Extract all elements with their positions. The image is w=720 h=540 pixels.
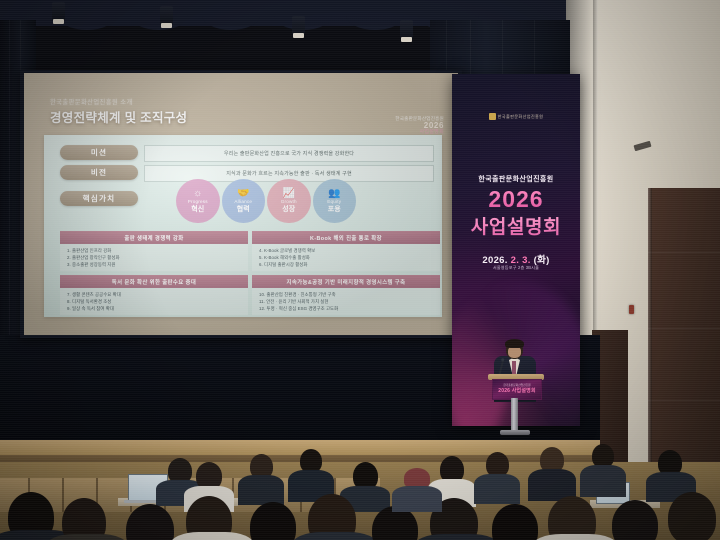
podium-stem	[511, 398, 518, 432]
banner-year: 2026	[452, 186, 580, 213]
stage-light-icon	[160, 6, 173, 25]
chart-up-icon: 📈	[283, 189, 295, 200]
core-value-ko: 혁신	[191, 206, 204, 213]
table-body: 4. K-Book 글로벌 경쟁력 확보 5. K-Book 해외수출 활성화 …	[252, 244, 440, 271]
audience-shoulders	[474, 474, 520, 504]
acoustic-panel	[648, 188, 720, 470]
handshake-icon: 🤝	[237, 189, 249, 200]
mission-statement: 우리는 출판문화산업 진흥으로 국가 지식 경쟁력을 강화한다	[144, 145, 434, 162]
table-item: 5. K-Book 해외수출 활성화	[259, 254, 440, 261]
banner-venue: 서울영등포구 2층 3B시홀	[452, 265, 580, 271]
audience-shoulders	[392, 486, 442, 512]
pill-vision: 비전	[60, 165, 138, 180]
table-header: K-Book 해외 진출 통로 확장	[252, 231, 440, 244]
table-header: 출판 생태계 경쟁력 강화	[60, 231, 248, 244]
strategy-table-1: 출판 생태계 경쟁력 강화 1. 출판산업 인프라 강화 2. 출판산업 창작인…	[60, 231, 248, 271]
table-item: 6. 디지털 출판시장 활성화	[259, 261, 440, 268]
acoustic-panel-edge	[648, 188, 652, 470]
audience-cap	[404, 468, 430, 488]
fire-alarm-icon	[629, 305, 634, 314]
podium-sign: 한국출판문화산업진흥원 2026 사업설명회	[492, 379, 542, 400]
stage-light-icon	[400, 20, 413, 39]
strategy-table-2: K-Book 해외 진출 통로 확장 4. K-Book 글로벌 경쟁력 확보 …	[252, 231, 440, 271]
core-value-equity: 👥 Equity 포용	[313, 179, 357, 223]
speaker-hair	[505, 339, 524, 348]
core-value-alliance: 🤝 Alliance 협력	[222, 179, 266, 223]
table-item: 9. 일상 속 독서 참여 확대	[67, 305, 248, 312]
table-item: 2. 출판산업 창작인구 활성화	[67, 254, 248, 261]
core-value-en: Progress	[188, 200, 208, 205]
slide-logo-org: 한국출판문화산업진흥원	[395, 117, 444, 122]
banner-event: 사업설명회	[452, 212, 580, 239]
table-item: 4. K-Book 글로벌 경쟁력 확보	[259, 247, 440, 254]
audience-shoulders	[580, 465, 626, 497]
core-value-en: Alliance	[234, 200, 252, 205]
presentation-photo: 한국출판문화산업진흥원 소개 경영전략체계 및 조직구성 한국출판문화산업진흥원…	[0, 0, 720, 540]
core-values-group: ☼ Progress 혁신 🤝 Alliance 협력 📈 Growth 성장	[176, 179, 356, 223]
lightbulb-icon: ☼	[193, 189, 202, 200]
banner-org: 한국출판문화산업진흥원	[452, 174, 580, 184]
strategy-table-4: 지속가능&공정 기반 미래지향적 경영시스템 구축 10. 출판산업 친환경 ·…	[252, 275, 440, 315]
podium-base	[500, 430, 530, 435]
core-value-en: Equity	[327, 200, 341, 205]
pill-core-values: 핵심가치	[60, 191, 138, 206]
table-header: 독서 문화 확산 위한 출판수요 증대	[60, 275, 248, 288]
institute-logo-icon	[489, 113, 496, 120]
slide-title: 경영전략체계 및 조직구성	[50, 107, 187, 126]
core-value-ko: 포용	[328, 206, 341, 213]
table-item: 8. 디지털 독서환경 조성	[67, 298, 248, 305]
core-value-progress: ☼ Progress 혁신	[176, 179, 220, 223]
slide: 한국출판문화산업진흥원 소개 경영전략체계 및 조직구성 한국출판문화산업진흥원…	[24, 73, 458, 335]
pill-mission: 미션	[60, 145, 138, 160]
slide-corner-logo: 한국출판문화산업진흥원 2026 사업설명회	[395, 117, 444, 135]
stage-light-icon	[292, 16, 305, 35]
speaker-tie	[512, 361, 516, 374]
banner-logo: 한국출판문화산업진흥원	[452, 108, 580, 126]
podium-sign-event: 2026 사업설명회	[493, 387, 541, 394]
table-body: 7. 생활 콘텐츠 공공수요 확대 8. 디지털 독서환경 조성 9. 일상 속…	[60, 288, 248, 315]
table-item: 10. 출판산업 친환경 · 친소통형 기반 구축	[259, 291, 440, 298]
strategy-table-3: 독서 문화 확산 위한 출판수요 증대 7. 생활 콘텐츠 공공수요 확대 8.…	[60, 275, 248, 315]
table-header: 지속가능&공정 기반 미래지향적 경영시스템 구축	[252, 275, 440, 288]
core-value-en: Growth	[281, 200, 297, 205]
table-body: 1. 출판산업 인프라 강화 2. 출판산업 창작인구 활성화 3. 중소출판 …	[60, 244, 248, 271]
people-icon: 👥	[328, 189, 340, 200]
slide-eyebrow: 한국출판문화산업진흥원 소개	[50, 97, 133, 106]
table-body: 10. 출판산업 친환경 · 친소통형 기반 구축 11. 안전 · 윤리 기반…	[252, 288, 440, 315]
projection-screen: 한국출판문화산업진흥원 소개 경영전략체계 및 조직구성 한국출판문화산업진흥원…	[24, 73, 458, 335]
banner-date: 2026. 2. 3. (화)	[452, 252, 580, 266]
table-item: 12. 투명 · 혁신 중심 ESG 경영구조 고도화	[259, 305, 440, 312]
audience-shoulders	[238, 475, 284, 505]
banner-logo-text: 한국출판문화산업진흥원	[498, 114, 544, 119]
stage-light-icon	[52, 2, 65, 21]
audience-head	[668, 492, 716, 540]
core-value-ko: 성장	[282, 206, 295, 213]
core-value-ko: 협력	[237, 206, 250, 213]
table-item: 1. 출판산업 인프라 강화	[67, 247, 248, 254]
table-item: 7. 생활 콘텐츠 공공수요 확대	[67, 291, 248, 298]
table-item: 3. 중소출판 성장동력 지원	[67, 261, 248, 268]
table-item: 11. 안전 · 윤리 기반 사회적 가치 실현	[259, 298, 440, 305]
slide-body: 미션 우리는 출판문화산업 진흥으로 국가 지식 경쟁력을 강화한다 비전 지식…	[44, 135, 442, 317]
core-value-growth: 📈 Growth 성장	[267, 179, 311, 223]
